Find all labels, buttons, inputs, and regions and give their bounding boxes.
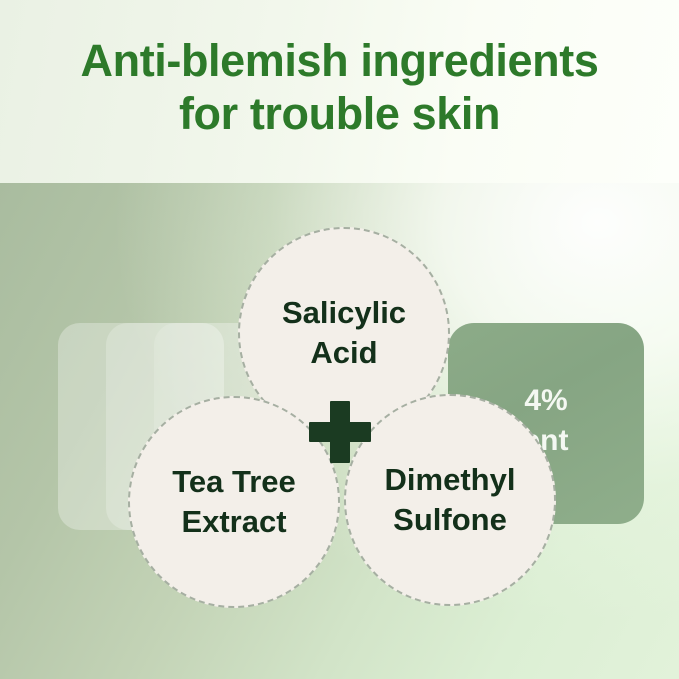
page-title-line1: Anti-blemish ingredients	[81, 35, 599, 86]
ingredient-label-line1: Tea Tree	[164, 462, 304, 502]
ingredient-venn-group: Salicylic Acid Tea Tree Extract Dimethyl…	[0, 183, 679, 679]
ingredient-circle-left-text: Tea Tree Extract	[164, 462, 304, 542]
promo-graphic: 4% ent Salicylic Acid Tea Tree Extract	[0, 0, 679, 679]
ingredient-label-line2: Acid	[274, 333, 414, 373]
ingredient-label-line1: Salicylic	[274, 293, 414, 333]
plus-icon	[309, 401, 371, 463]
stage-background: 4% ent Salicylic Acid Tea Tree Extract	[0, 183, 679, 679]
ingredient-label-line1: Dimethyl	[377, 460, 524, 500]
ingredient-circle-top-text: Salicylic Acid	[274, 293, 414, 373]
ingredient-label-line2: Extract	[164, 502, 304, 542]
ingredient-label-line2: Sulfone	[377, 500, 524, 540]
header-band: Anti-blemish ingredients for trouble ski…	[0, 0, 679, 183]
ingredient-circle-right-text: Dimethyl Sulfone	[377, 460, 524, 540]
page-title-line2: for trouble skin	[0, 87, 679, 140]
ingredient-circle-dimethyl-sulfone: Dimethyl Sulfone	[344, 394, 556, 606]
page-title: Anti-blemish ingredients for trouble ski…	[0, 34, 679, 140]
plus-icon-vertical-bar	[330, 401, 350, 463]
